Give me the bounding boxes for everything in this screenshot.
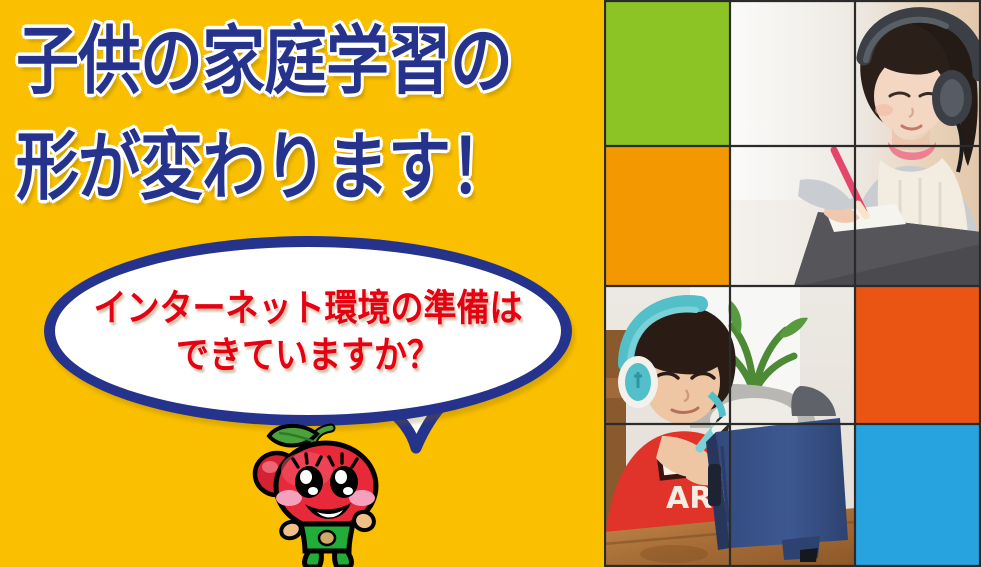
photo-color-grid: ARM RE: [604, 0, 981, 567]
swatch-red-orange: [855, 286, 981, 424]
swatch-green: [604, 0, 730, 146]
swatch-blue: [855, 424, 981, 567]
page-title-line-2: 形が変わります！: [16, 130, 596, 204]
photo-boy-studying-with-tablet: ARM RE: [604, 286, 855, 567]
page-title-line-1: 子供の家庭学習の: [16, 24, 596, 98]
bubble-line-2: できていますか？: [176, 336, 440, 373]
speech-bubble: インターネット環境の準備は できていますか？: [44, 236, 572, 451]
poster-root: 子供の家庭学習の 形が変わります！ インターネット環境の準備は できていますか？: [0, 0, 981, 567]
swatch-orange: [604, 146, 730, 286]
cherry-character-mascot-icon: [243, 420, 393, 567]
speech-bubble-text: インターネット環境の準備は できていますか？: [44, 236, 572, 426]
bubble-line-1: インターネット環境の準備は: [94, 289, 523, 326]
left-text-panel: 子供の家庭学習の 形が変わります！ インターネット環境の準備は できていますか？: [0, 0, 604, 567]
photo-girl-studying-with-headphones: [730, 0, 981, 286]
